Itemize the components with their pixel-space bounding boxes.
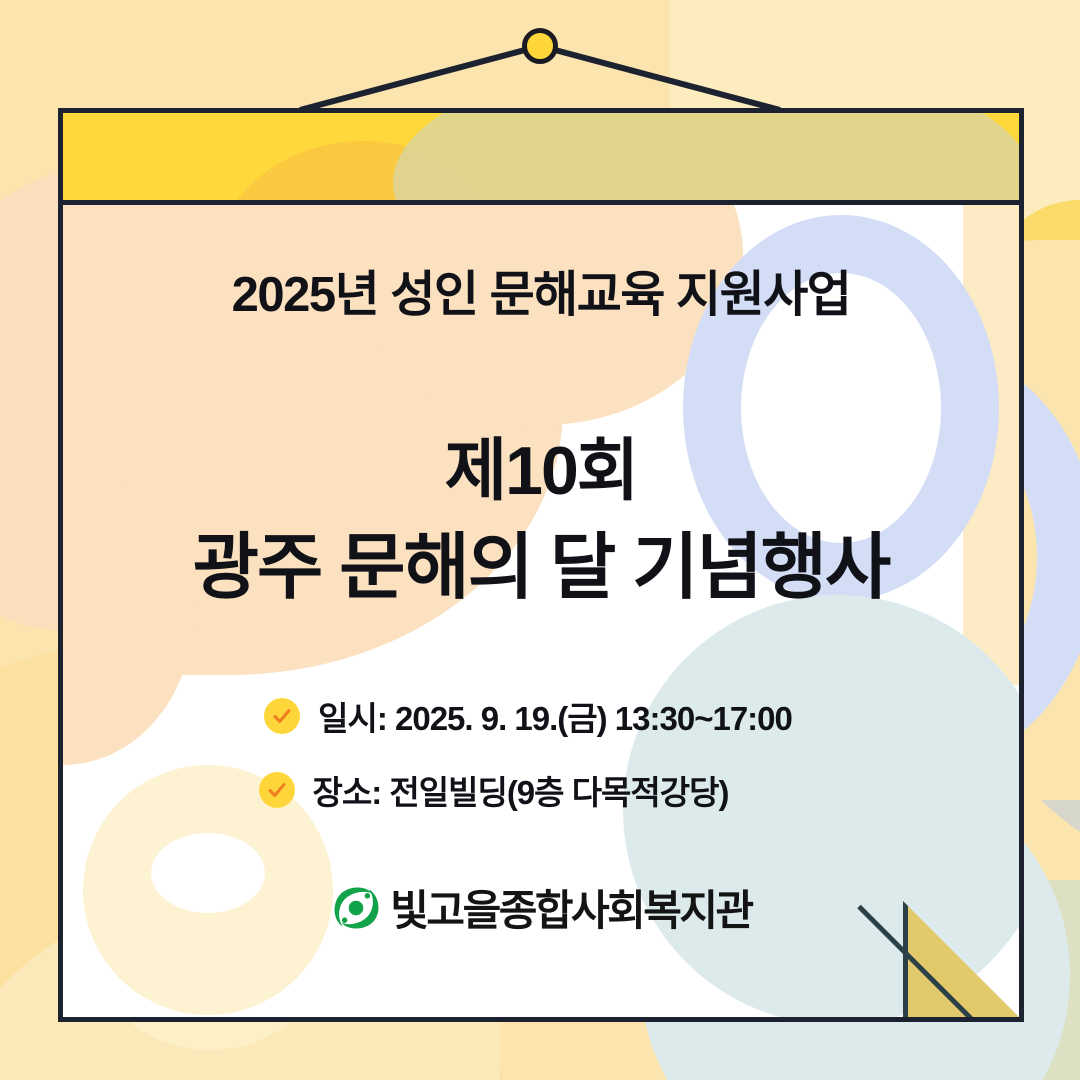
hanger-knob-icon bbox=[522, 28, 558, 64]
event-detail-date: 일시: 2025. 9. 19.(금) 13:30~17:00 bbox=[264, 692, 792, 740]
bitgoeul-swirl-logo-icon bbox=[330, 882, 382, 934]
banner-header-bar bbox=[63, 113, 1019, 205]
event-details-list: 일시: 2025. 9. 19.(금) 13:30~17:00 장소: 전일빌딩… bbox=[63, 692, 1019, 814]
poster-title-line-2: 광주 문해의 달 기념행사 bbox=[63, 519, 1019, 618]
event-detail-place-label: 장소: 전일빌딩(9층 다목적강당) bbox=[313, 766, 729, 814]
event-detail-place: 장소: 전일빌딩(9층 다목적강당) bbox=[259, 766, 729, 814]
poster-title-line-1: 제10회 bbox=[445, 433, 638, 509]
poster-root: 2025년 성인 문해교육 지원사업 제10회 광주 문해의 달 기념행사 일시… bbox=[0, 0, 1080, 1080]
banner-card: 2025년 성인 문해교육 지원사업 제10회 광주 문해의 달 기념행사 일시… bbox=[58, 108, 1024, 1022]
organization-name: 빛고을종합사회복지관 bbox=[390, 877, 751, 938]
organization-block: 빛고을종합사회복지관 bbox=[63, 877, 1019, 938]
check-circle-icon bbox=[259, 772, 295, 808]
check-circle-icon bbox=[264, 698, 300, 734]
banner-body: 2025년 성인 문해교육 지원사업 제10회 광주 문해의 달 기념행사 일시… bbox=[63, 205, 1019, 1017]
header-decoration-b bbox=[393, 113, 1019, 205]
event-detail-date-label: 일시: 2025. 9. 19.(금) 13:30~17:00 bbox=[318, 692, 792, 740]
poster-subtitle: 2025년 성인 문해교육 지원사업 bbox=[63, 255, 1019, 326]
poster-title: 제10회 광주 문해의 달 기념행사 bbox=[63, 425, 1019, 618]
